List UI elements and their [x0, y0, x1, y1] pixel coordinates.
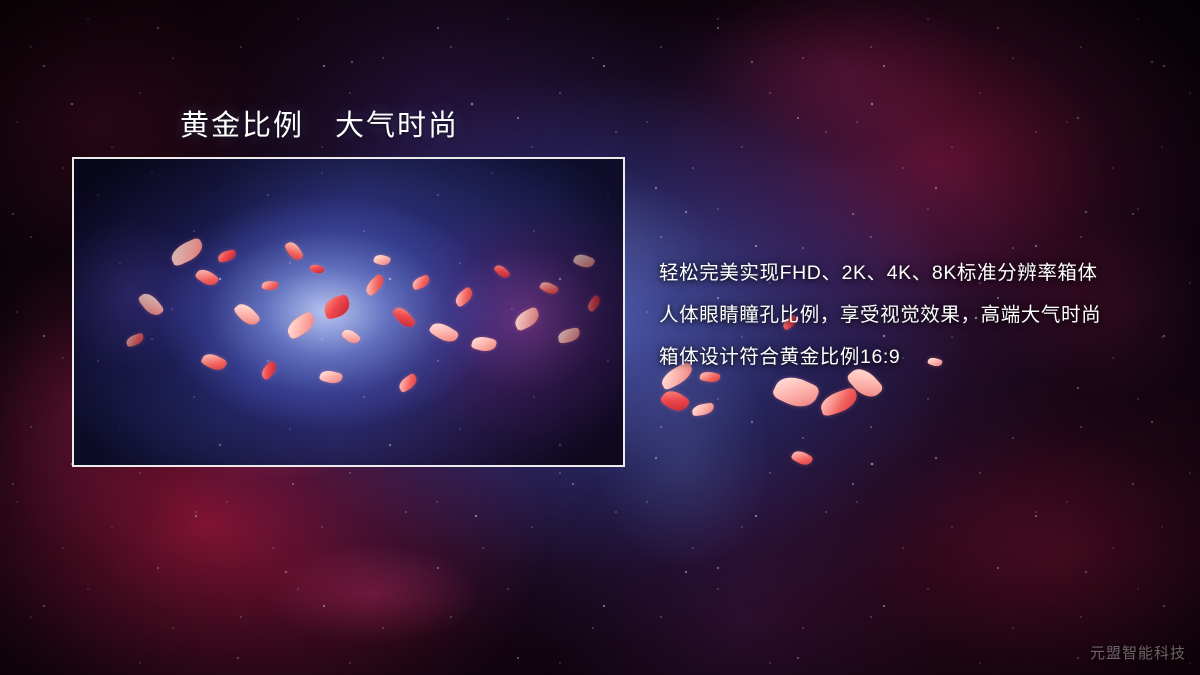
- page-title: 黄金比例 大气时尚: [180, 102, 459, 144]
- body-line-1: 轻松完美实现FHD、2K、4K、8K标准分辨率箱体: [659, 252, 1169, 294]
- body-text-block: 轻松完美实现FHD、2K、4K、8K标准分辨率箱体 人体眼睛瞳孔比例，享受视觉效…: [659, 252, 1169, 378]
- presentation-slide: 黄金比例 大气时尚 轻松完美实现FHD、2K、4K、8K标准分辨率箱体 人体眼睛…: [0, 0, 1200, 675]
- body-line-3: 箱体设计符合黄金比例16:9: [659, 336, 1169, 378]
- watermark-label: 元盟智能科技: [1090, 642, 1186, 663]
- framed-photo: [72, 157, 625, 467]
- body-line-2: 人体眼睛瞳孔比例，享受视觉效果，高端大气时尚: [659, 294, 1169, 336]
- photo-vignette: [74, 159, 623, 465]
